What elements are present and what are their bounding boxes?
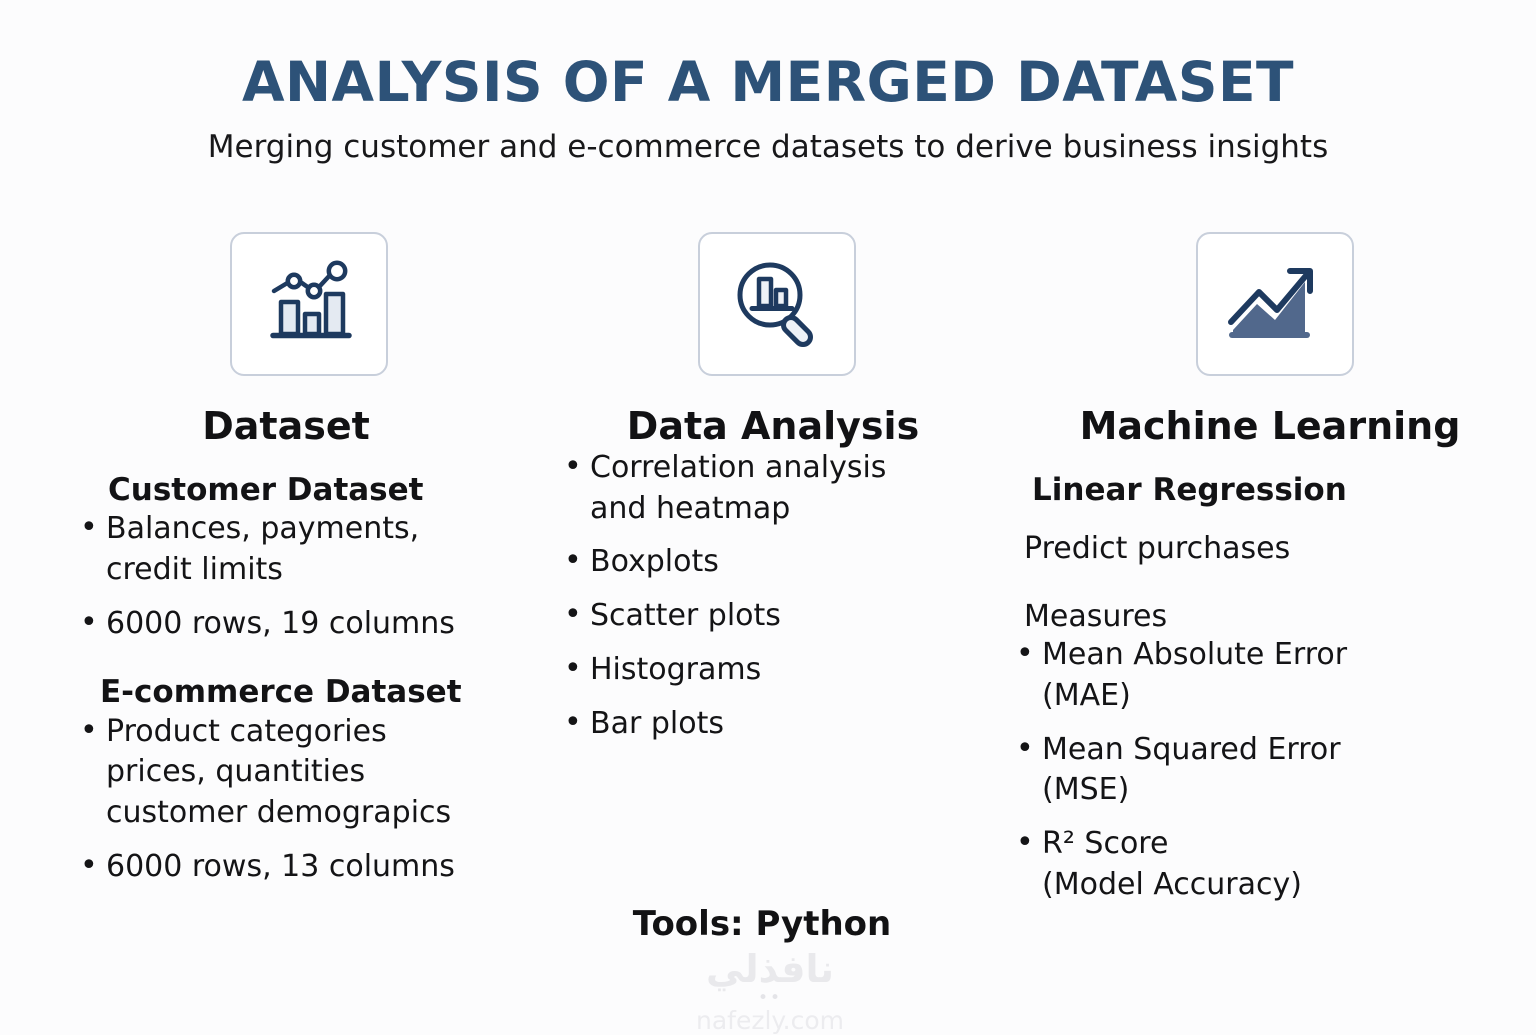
data-analysis-bullets: Correlation analysis and heatmap Boxplot…: [562, 448, 992, 745]
icon-tile-machine-learning: [1196, 232, 1354, 376]
list-item-line: Mean Absolute Error: [1042, 637, 1347, 672]
ecommerce-dataset-bullets: Product categories prices, quantities cu…: [78, 712, 540, 888]
list-item-line: Histograms: [590, 652, 761, 687]
list-item-line: (Model Accuracy): [1042, 867, 1302, 902]
list-item: Balances, payments, credit limits: [78, 509, 540, 591]
icon-tile-data-analysis: [698, 232, 856, 376]
list-item: Mean Squared Error (MSE): [1014, 730, 1536, 812]
measures-label-wrap: Measures: [1014, 567, 1536, 635]
model-purpose-wrap: Predict purchases: [1014, 509, 1536, 567]
list-item-line: 6000 rows, 13 columns: [106, 849, 455, 884]
list-item-line: Bar plots: [590, 706, 724, 741]
icon-tile-wrap-data-analysis: [562, 232, 1000, 376]
icon-tile-wrap-machine-learning: [1014, 232, 1536, 376]
ecommerce-dataset-section: E-commerce Dataset: [78, 644, 540, 711]
list-item-line: Scatter plots: [590, 598, 781, 633]
page-title: ANALYSIS OF A MERGED DATASET: [0, 0, 1536, 112]
list-item-line: Correlation analysis: [590, 450, 886, 485]
list-item-line: (MAE): [1042, 678, 1131, 713]
list-item: Mean Absolute Error (MAE): [1014, 635, 1536, 717]
list-item: Histograms: [562, 650, 992, 691]
icon-tile-wrap-dataset: [78, 232, 586, 376]
list-item: 6000 rows, 19 columns: [78, 604, 540, 645]
list-item: 6000 rows, 13 columns: [78, 847, 540, 888]
list-item: Scatter plots: [562, 596, 992, 637]
list-item-line: Boxplots: [590, 544, 719, 579]
list-item: Product categories prices, quantities cu…: [78, 712, 540, 834]
measures-bullets: Mean Absolute Error (MAE) Mean Squared E…: [1014, 635, 1536, 906]
infographic-page: ANALYSIS OF A MERGED DATASET Merging cus…: [0, 0, 1536, 1024]
list-item-line: (MSE): [1042, 772, 1129, 807]
ecommerce-dataset-heading: E-commerce Dataset: [100, 674, 540, 711]
list-item-line: 6000 rows, 19 columns: [106, 606, 455, 641]
list-item-line: Product categories: [106, 714, 387, 749]
list-item-line: Mean Squared Error: [1042, 732, 1341, 767]
magnifier-bar-chart-icon: [731, 258, 823, 350]
model-heading: Linear Regression: [1032, 472, 1536, 509]
trending-up-area-icon: [1225, 260, 1325, 348]
customer-dataset-bullets: Balances, payments, credit limits 6000 r…: [78, 509, 540, 644]
measures-label: Measures: [1024, 599, 1536, 635]
list-item-line: credit limits: [106, 552, 283, 587]
list-item-line: customer demograpics: [106, 795, 451, 830]
list-item-line: Balances, payments,: [106, 511, 419, 546]
list-item-line: R² Score: [1042, 826, 1168, 861]
columns-container: Dataset Customer Dataset Balances, payme…: [0, 232, 1536, 1024]
list-item: R² Score (Model Accuracy): [1014, 824, 1536, 906]
column-heading-machine-learning: Machine Learning: [1014, 376, 1536, 448]
column-heading-dataset: Dataset: [78, 376, 540, 448]
column-data-analysis: Data Analysis Correlation analysis and h…: [540, 232, 992, 1024]
list-item: Correlation analysis and heatmap: [562, 448, 992, 530]
customer-dataset-section: Customer Dataset: [78, 448, 540, 509]
column-machine-learning: Machine Learning Linear Regression Predi…: [992, 232, 1536, 1024]
customer-dataset-heading: Customer Dataset: [108, 472, 540, 509]
list-item-line: prices, quantities: [106, 754, 365, 789]
page-subtitle: Merging customer and e-commerce datasets…: [0, 112, 1536, 166]
icon-tile-dataset: [230, 232, 388, 376]
header: ANALYSIS OF A MERGED DATASET Merging cus…: [0, 0, 1536, 165]
model-section: Linear Regression: [1014, 448, 1536, 509]
tools-label: Tools: Python: [540, 904, 992, 944]
bar-chart-line-icon: [261, 260, 357, 348]
list-item-line: and heatmap: [590, 491, 790, 526]
model-purpose: Predict purchases: [1024, 531, 1536, 567]
list-item: Boxplots: [562, 542, 992, 583]
column-heading-data-analysis: Data Analysis: [562, 376, 992, 448]
list-item: Bar plots: [562, 704, 992, 745]
column-dataset: Dataset Customer Dataset Balances, payme…: [0, 232, 540, 1024]
